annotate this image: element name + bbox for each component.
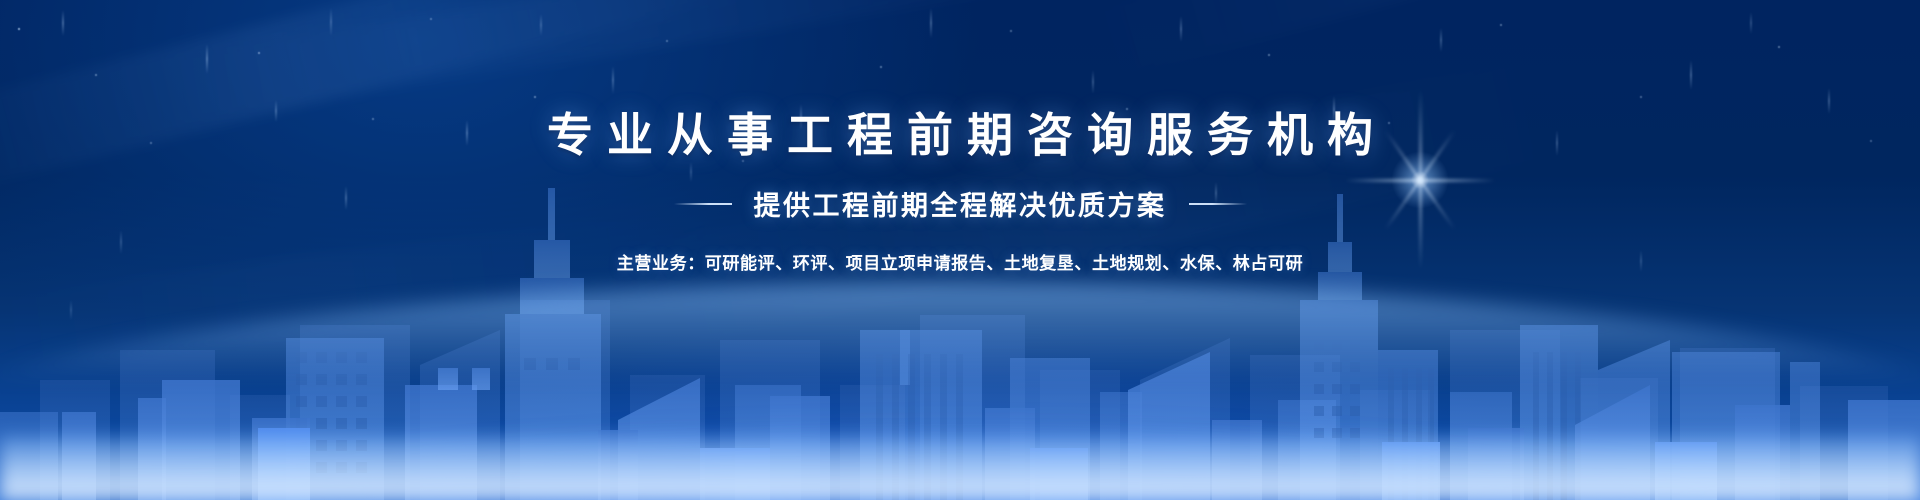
divider-dash-right-icon — [1189, 203, 1247, 205]
banner-subtitle: 提供工程前期全程解决优质方案 — [754, 184, 1167, 223]
banner-title: 专业从事工程前期咨询服务机构 — [533, 112, 1387, 158]
banner-subtitle-row: 提供工程前期全程解决优质方案 — [674, 184, 1247, 223]
banner-content: 专业从事工程前期咨询服务机构 提供工程前期全程解决优质方案 主营业务：可研能评、… — [0, 0, 1920, 500]
banner-services: 主营业务：可研能评、环评、项目立项申请报告、土地复垦、土地规划、水保、林占可研 — [617, 249, 1303, 274]
divider-dash-left-icon — [674, 203, 732, 205]
promo-banner: 专业从事工程前期咨询服务机构 提供工程前期全程解决优质方案 主营业务：可研能评、… — [0, 0, 1920, 500]
